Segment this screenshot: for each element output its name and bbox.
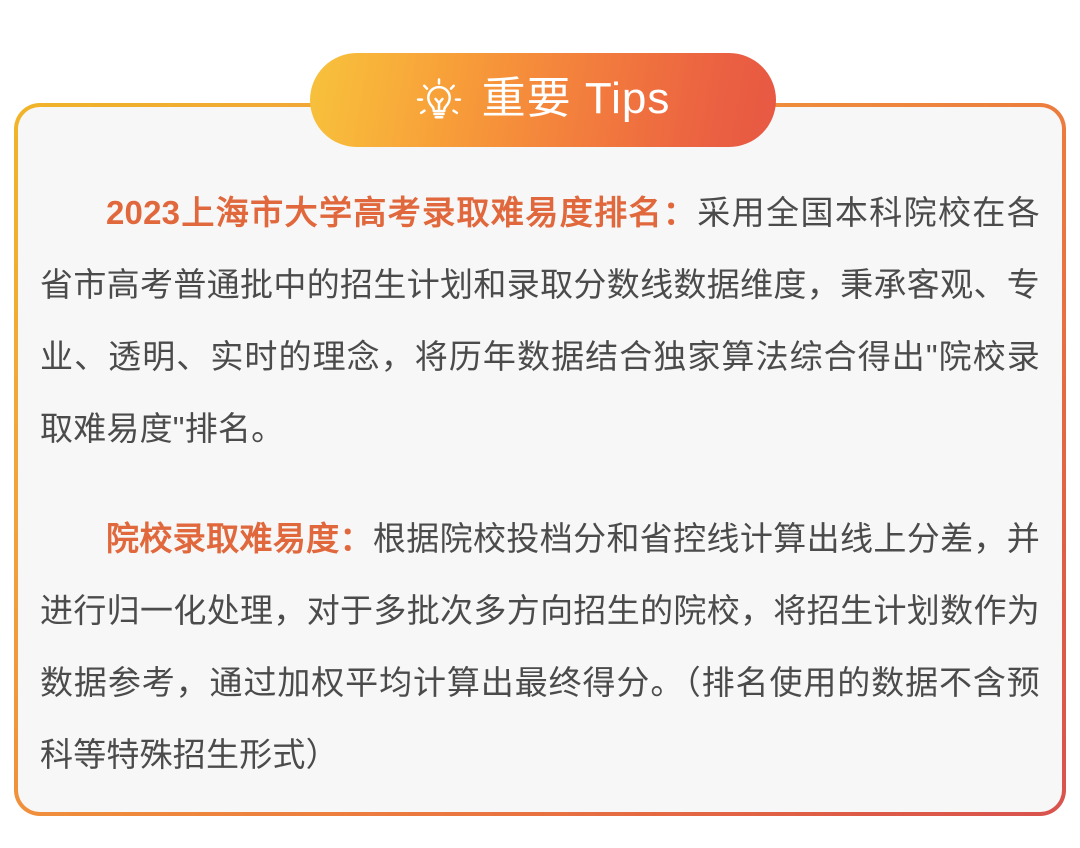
tips-card-container: 2023上海市大学高考录取难易度排名：采用全国本科院校在各省市高考普通批中的招生… [0, 0, 1080, 848]
lightbulb-icon [416, 78, 462, 124]
tips-paragraph-lead: 2023上海市大学高考录取难易度排名： [106, 194, 697, 231]
tips-paragraph-lead: 院校录取难易度： [106, 520, 373, 557]
tips-paragraph-ranking: 2023上海市大学高考录取难易度排名：采用全国本科院校在各省市高考普通批中的招生… [40, 177, 1040, 465]
tips-card: 2023上海市大学高考录取难易度排名：采用全国本科院校在各省市高考普通批中的招生… [14, 103, 1066, 816]
important-tips-label: 重要 Tips [482, 77, 671, 121]
tips-paragraph-difficulty: 院校录取难易度：根据院校投档分和省控线计算出线上分差，并进行归一化处理，对于多批… [40, 503, 1040, 791]
important-tips-badge: 重要 Tips [310, 53, 776, 147]
tips-paragraph-text: 采用全国本科院校在各省市高考普通批中的招生计划和录取分数线数据维度，秉承客观、专… [40, 194, 1040, 447]
tips-card-inner: 2023上海市大学高考录取难易度排名：采用全国本科院校在各省市高考普通批中的招生… [18, 107, 1062, 812]
tips-paragraph-text: 根据院校投档分和省控线计算出线上分差，并进行归一化处理，对于多批次多方向招生的院… [40, 520, 1040, 773]
tips-body: 2023上海市大学高考录取难易度排名：采用全国本科院校在各省市高考普通批中的招生… [40, 177, 1040, 791]
